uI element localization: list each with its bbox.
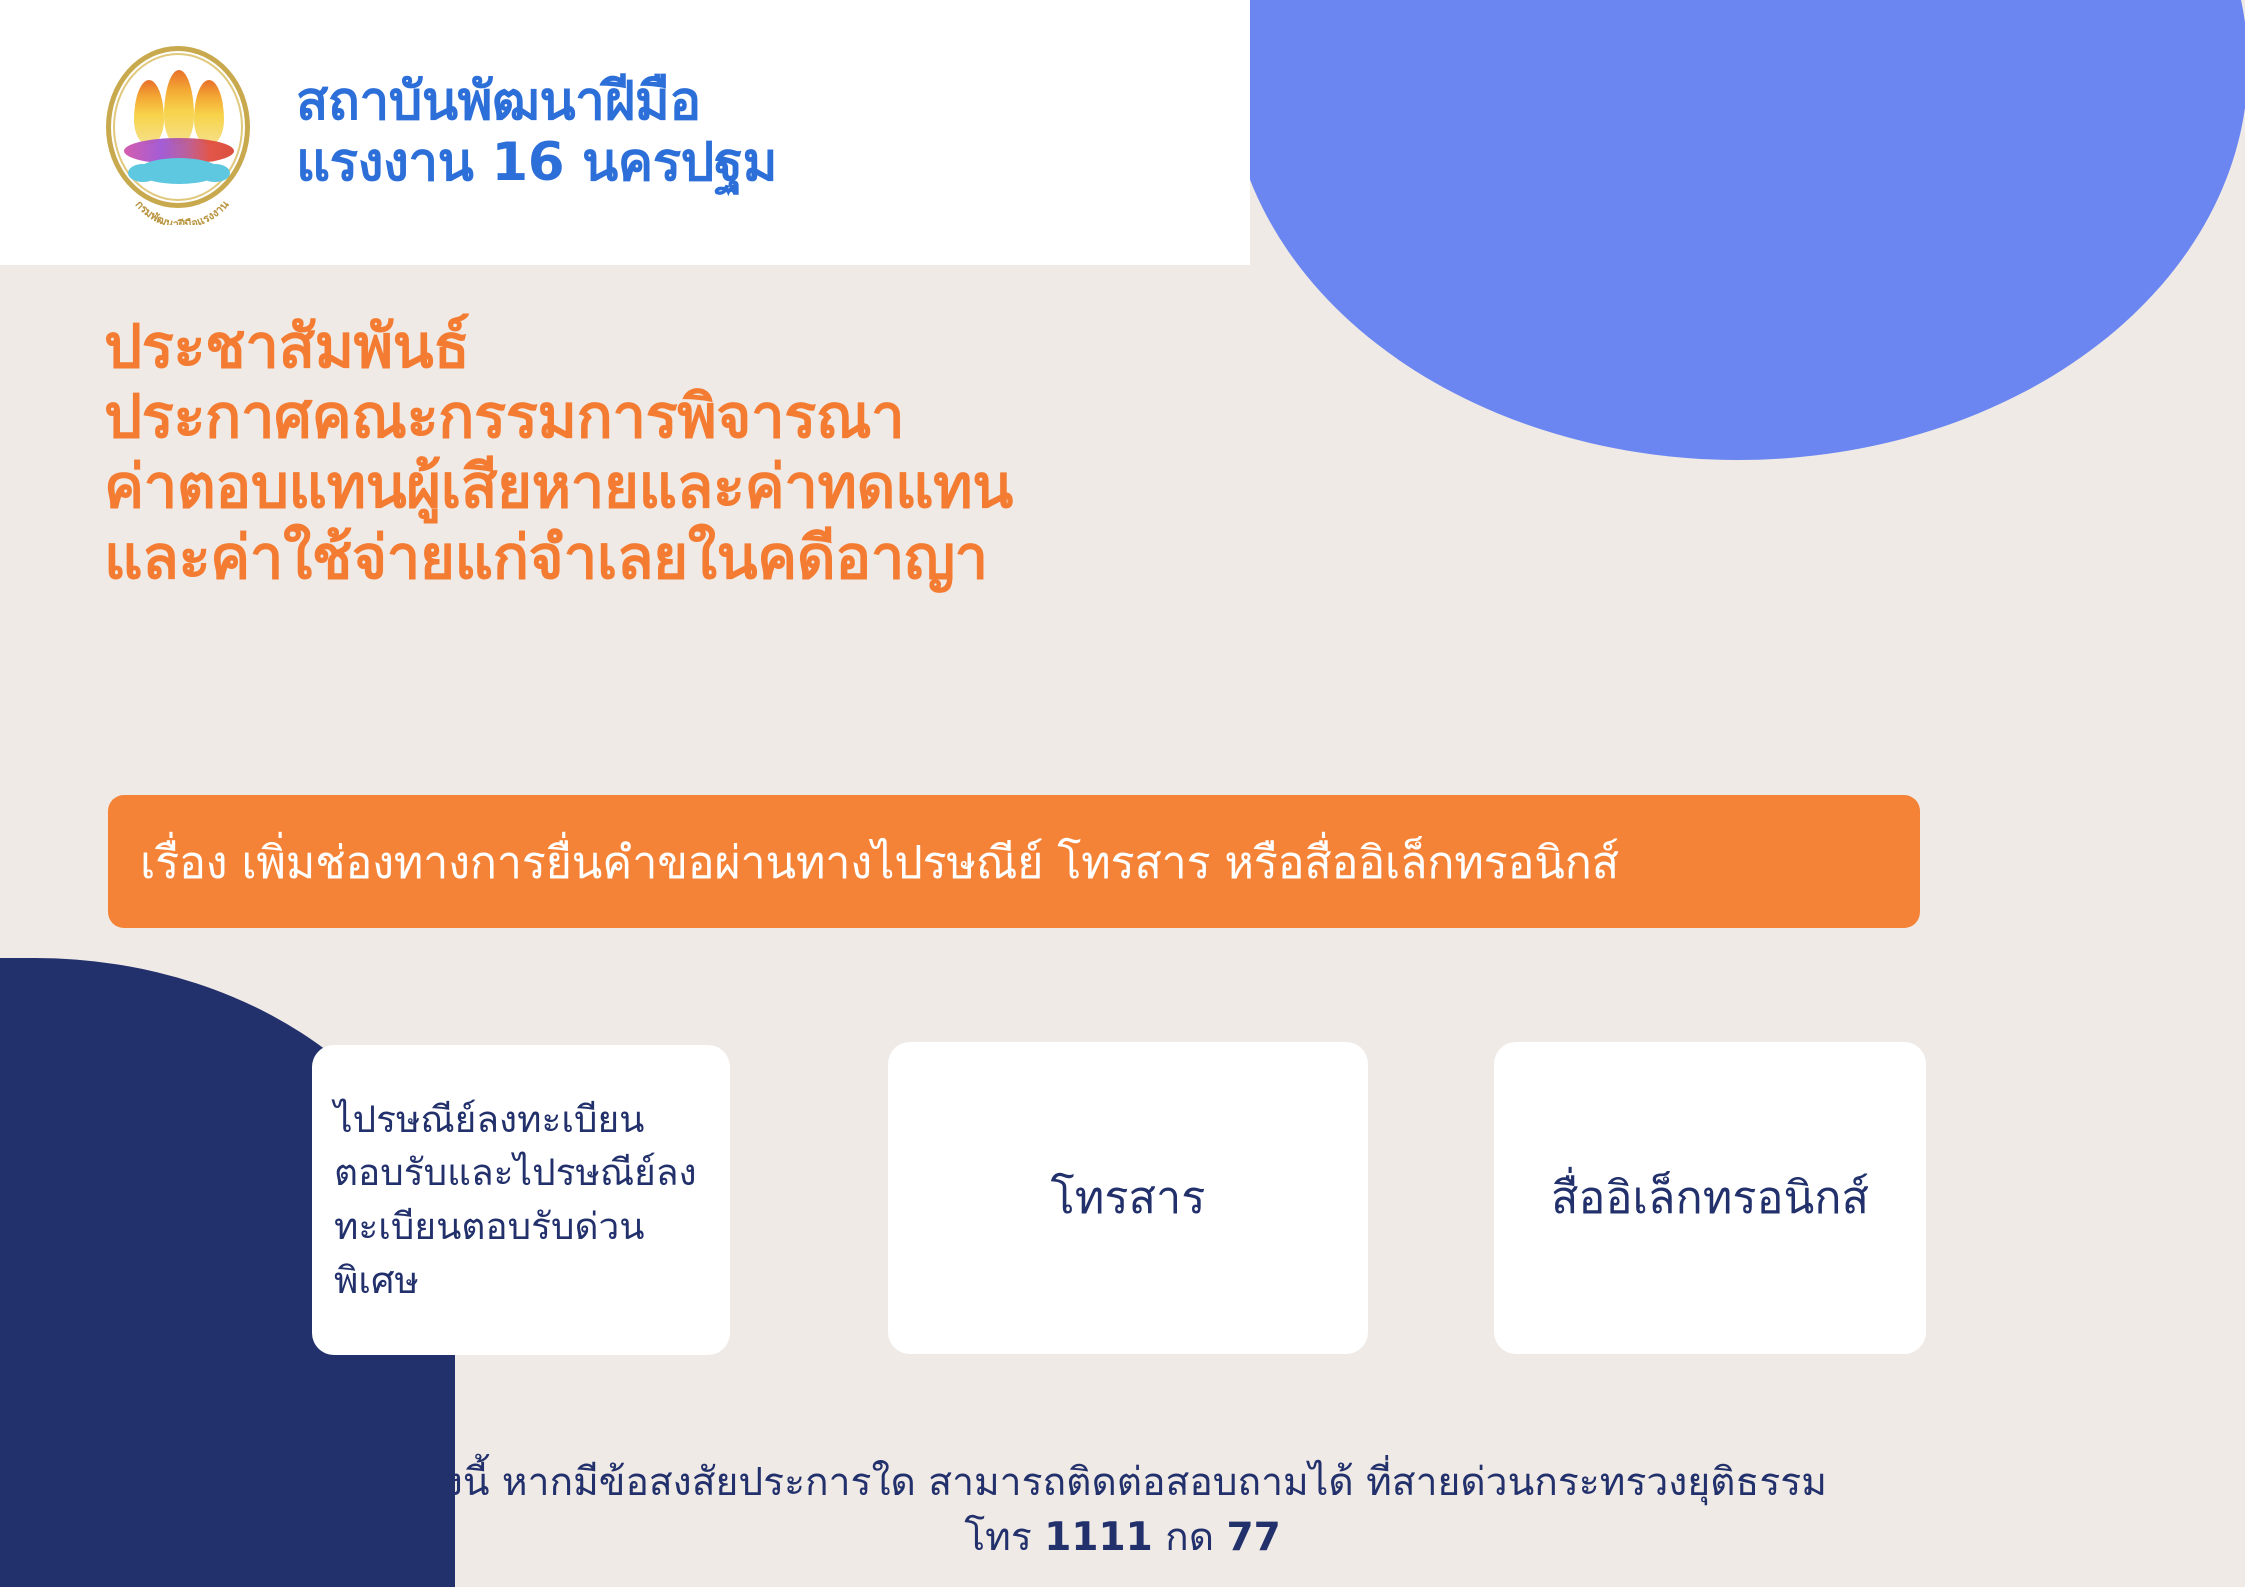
footer-line-2: โทร 1111 กด 77 (0, 1510, 2245, 1565)
subject-banner-text: เรื่อง เพิ่มช่องทางการยื่นคำขอผ่านทางไปร… (140, 826, 1619, 898)
channel-card-electronic-label: สื่ออิเล็กทรอนิกส์ (1551, 1165, 1869, 1230)
headline-block: ประชาสัมพันธ์ ประกาศคณะกรรมการพิจารณา ค่… (104, 312, 1013, 593)
organization-name-line2: แรงงาน 16 นครปฐม (296, 132, 777, 193)
channel-card-postal-label: ไปรษณีย์ลงทะเบียนตอบรับและไปรษณีย์ลงทะเบ… (334, 1093, 708, 1308)
emblem-arc-label: กรมพัฒนาฝีมือแรงงาน (133, 198, 232, 225)
footer-extension-number: 77 (1227, 1515, 1281, 1560)
channel-card-fax[interactable]: โทรสาร (888, 1042, 1368, 1354)
footer-press-label: กด (1153, 1515, 1227, 1560)
poster-canvas: กรมพัฒนาฝีมือแรงงาน สถาบันพัฒนาฝีมือ แรง… (0, 0, 2245, 1587)
decorative-blue-circle (1228, 0, 2245, 460)
footer-block: ทั้งนี้ หากมีข้อสงสัยประการใด สามารถติดต… (0, 1455, 2245, 1566)
headline-line-1: ประชาสัมพันธ์ (104, 312, 1013, 382)
organization-name: สถาบันพัฒนาฝีมือ แรงงาน 16 นครปฐม (296, 72, 777, 193)
header-card: กรมพัฒนาฝีมือแรงงาน สถาบันพัฒนาฝีมือ แรง… (0, 0, 1250, 265)
channel-card-postal[interactable]: ไปรษณีย์ลงทะเบียนตอบรับและไปรษณีย์ลงทะเบ… (312, 1045, 730, 1355)
headline-line-3: ค่าตอบแทนผู้เสียหายและค่าทดแทน (104, 452, 1013, 522)
headline-line-2: ประกาศคณะกรรมการพิจารณา (104, 382, 1013, 452)
footer-hotline-number: 1111 (1044, 1515, 1153, 1560)
headline-line-4: และค่าใช้จ่ายแก่จำเลยในคดีอาญา (104, 523, 1013, 593)
channel-card-electronic[interactable]: สื่ออิเล็กทรอนิกส์ (1494, 1042, 1926, 1354)
channel-card-fax-label: โทรสาร (1051, 1165, 1206, 1230)
department-emblem-icon: กรมพัฒนาฝีมือแรงงาน (98, 40, 266, 225)
organization-name-line1: สถาบันพัฒนาฝีมือ (296, 71, 701, 132)
emblem-arc-text-icon: กรมพัฒนาฝีมือแรงงาน (98, 40, 266, 225)
subject-banner: เรื่อง เพิ่มช่องทางการยื่นคำขอผ่านทางไปร… (108, 795, 1920, 928)
footer-phone-prefix: โทร (964, 1515, 1044, 1560)
footer-line-1: ทั้งนี้ หากมีข้อสงสัยประการใด สามารถติดต… (0, 1455, 2245, 1510)
